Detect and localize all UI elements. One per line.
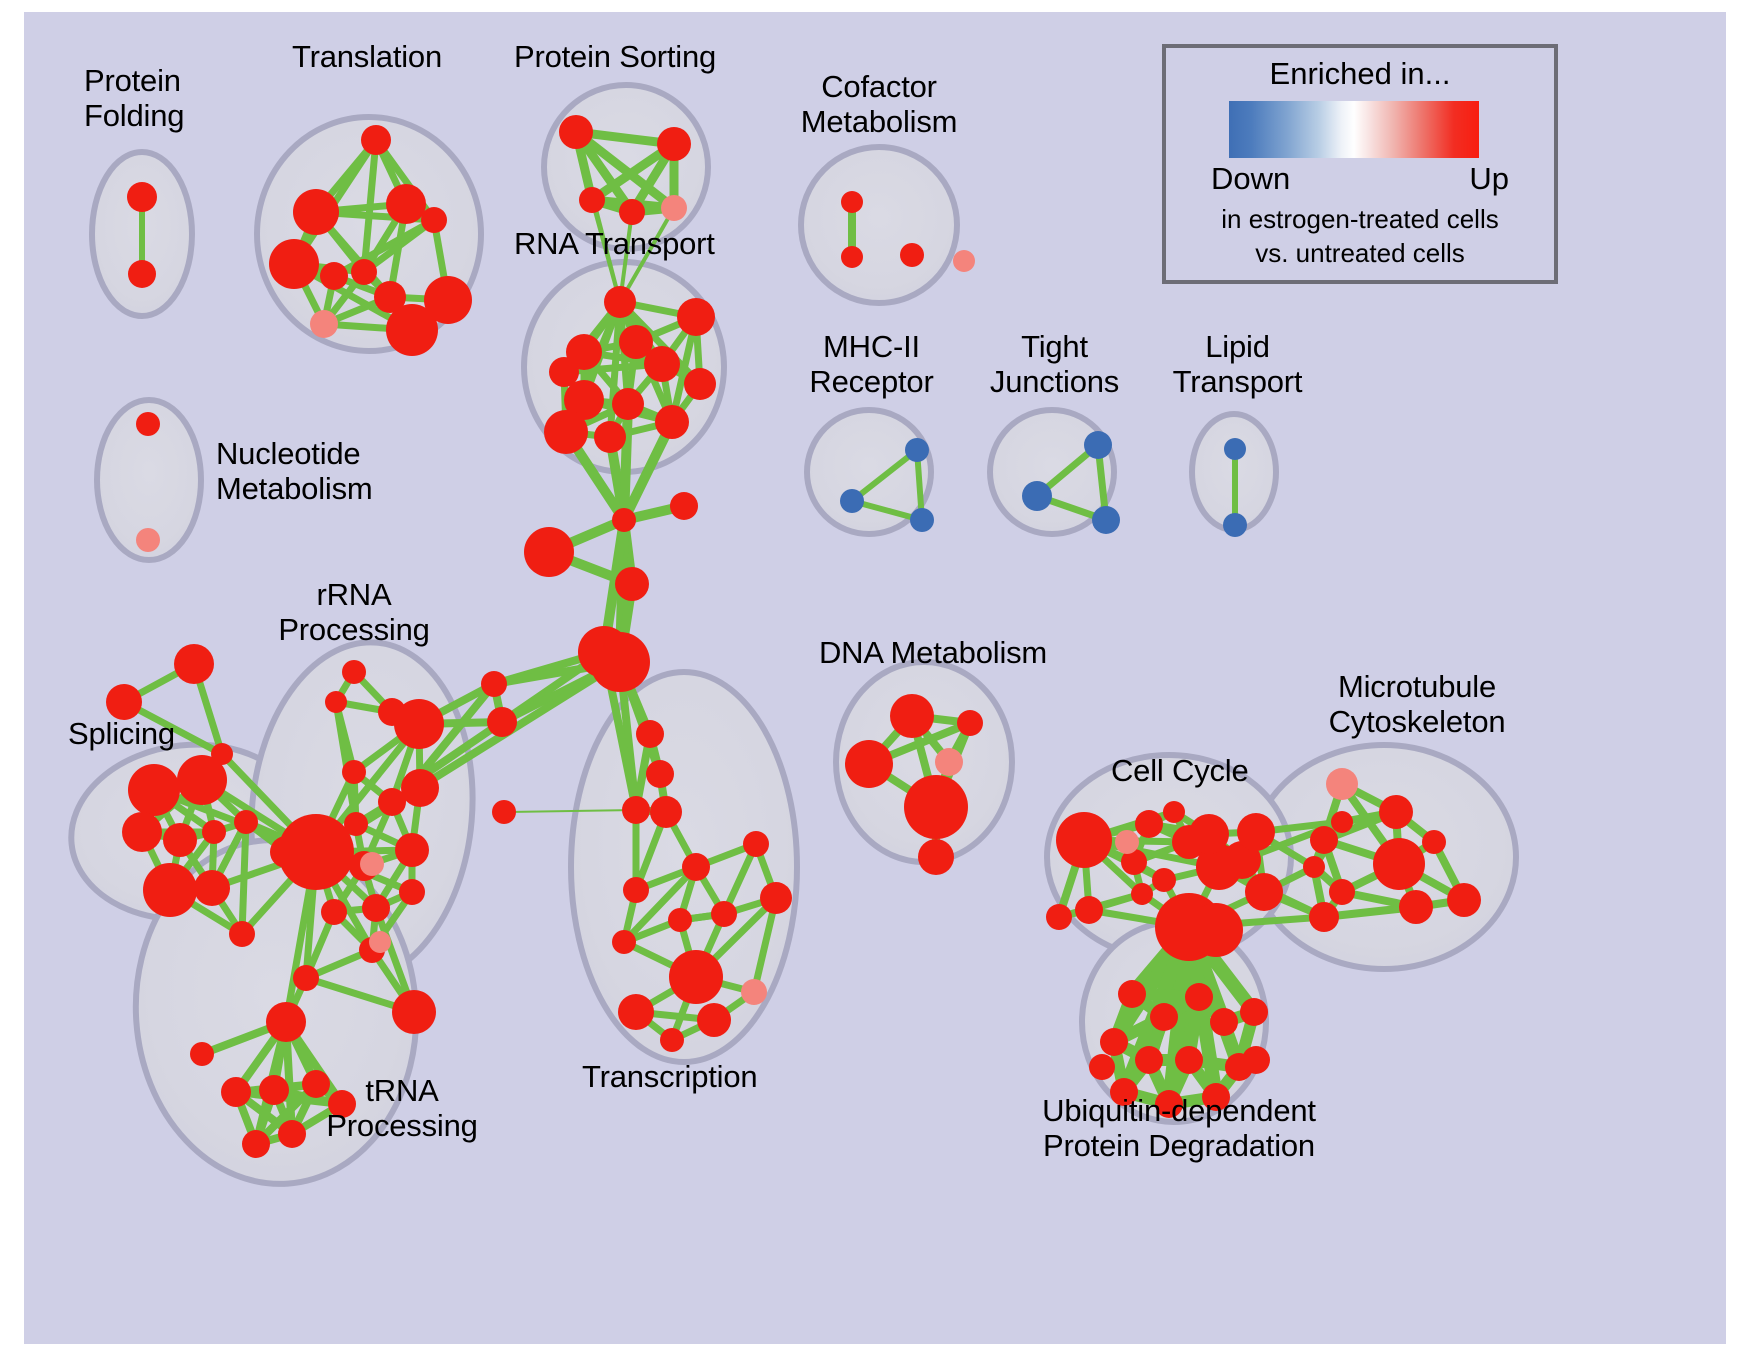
label-rrna-processing: rRNA Processing (254, 578, 454, 647)
label-dna-metabolism: DNA Metabolism (819, 636, 1047, 671)
enrichment-network-figure: Protein Folding Translation Protein Sort… (0, 0, 1750, 1360)
label-protein-sorting: Protein Sorting (514, 40, 716, 75)
label-splicing: Splicing (68, 717, 175, 752)
node-nucleotide-1 (136, 412, 160, 436)
hull-cofactor (801, 147, 957, 303)
label-cell-cycle: Cell Cycle (1111, 754, 1249, 789)
node-weak-translation (310, 310, 338, 338)
label-transcription: Transcription (582, 1060, 757, 1095)
label-mhc-ii-receptor: MHC-II Receptor (784, 330, 959, 399)
label-lipid-transport: Lipid Transport (1150, 330, 1325, 399)
node-weak-rrna-2 (369, 931, 391, 953)
legend-title: Enriched in... (1166, 56, 1554, 92)
legend-high-label: Up (1469, 161, 1509, 197)
node-weak-cell-cycle (1115, 830, 1139, 854)
legend-low-label: Down (1211, 161, 1290, 197)
node-weak-microtubule (1326, 768, 1358, 800)
node-weak-transcription (741, 979, 767, 1005)
legend-color-gradient (1229, 101, 1479, 158)
label-nucleotide-metabolism: Nucleotide Metabolism (216, 437, 373, 506)
label-translation: Translation (292, 40, 442, 75)
label-protein-folding: Protein Folding (84, 64, 184, 133)
label-microtubule-cytoskeleton: Microtubule Cytoskeleton (1292, 670, 1542, 739)
label-rna-transport: RNA Transport (514, 227, 715, 262)
node-weak-protein-sorting (661, 195, 687, 221)
network-canvas[interactable]: Protein Folding Translation Protein Sort… (24, 12, 1726, 1344)
legend-subtitle-line1: in estrogen-treated cells (1166, 204, 1554, 235)
label-tight-junctions: Tight Junctions (967, 330, 1142, 399)
legend-subtitle-line2: vs. untreated cells (1166, 238, 1554, 269)
node-weak-dna-metabolism (935, 748, 963, 776)
label-trna-processing: tRNA Processing (302, 1074, 502, 1143)
node-nucleotide-2 (136, 528, 160, 552)
node-weak-cofactor (953, 250, 975, 272)
legend-panel: Enriched in... Down Up in estrogen-treat… (1162, 44, 1558, 284)
label-ubiquitin-degradation: Ubiquitin-dependent Protein Degradation (984, 1094, 1374, 1163)
label-cofactor-metabolism: Cofactor Metabolism (784, 70, 974, 139)
node-weak-rrna-1 (360, 852, 384, 876)
